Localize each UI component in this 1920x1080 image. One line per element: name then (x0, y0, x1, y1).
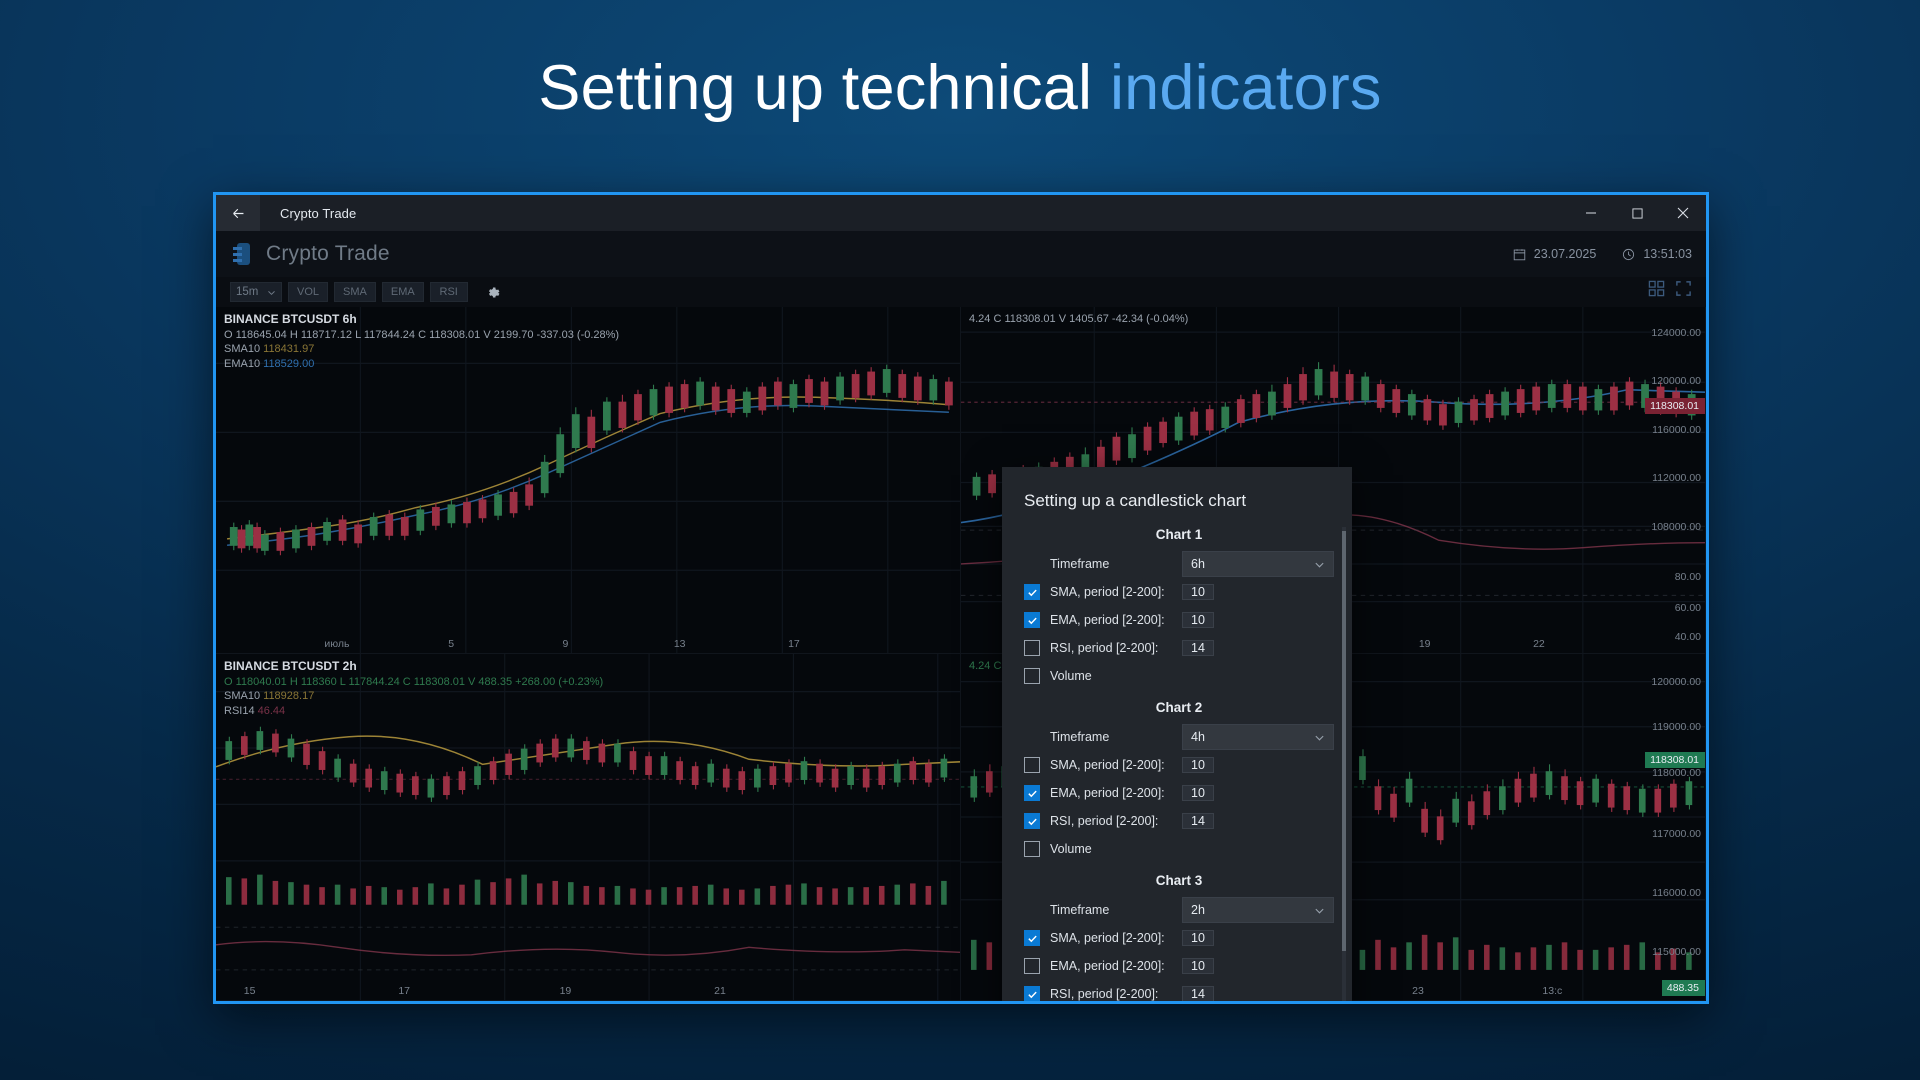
rsi-checkbox-2[interactable] (1024, 813, 1040, 829)
sma-field[interactable]: 10 (1182, 580, 1334, 604)
volume-checkbox-2[interactable] (1024, 841, 1040, 857)
volume-label: Volume (1050, 669, 1334, 683)
checkbox-box (1024, 958, 1040, 974)
chevron-down-icon (1314, 905, 1325, 916)
chart-settings-dialog: Setting up a candlestick chart Chart 1 T… (1002, 467, 1352, 1004)
ema-label: EMA, period [2-200]: (1050, 786, 1182, 800)
timeframe-select-1[interactable]: 6h (1182, 551, 1334, 577)
ema-field[interactable]: 10 (1182, 954, 1334, 978)
checkbox-box (1024, 612, 1040, 628)
spacer (1024, 729, 1040, 745)
checkbox-box (1024, 813, 1040, 829)
minimize-icon (1585, 207, 1597, 219)
rsi-label: RSI, period [2-200]: (1050, 641, 1182, 655)
checkbox-box (1024, 584, 1040, 600)
app-body: Crypto Trade 23.07.2025 13:51:03 (216, 231, 1706, 1001)
volume-label: Volume (1050, 842, 1334, 856)
sma-checkbox-3[interactable] (1024, 930, 1040, 946)
ema-field[interactable]: 10 (1182, 608, 1334, 632)
checkbox-box (1024, 930, 1040, 946)
checkbox-box (1024, 668, 1040, 684)
rsi-label: RSI, period [2-200]: (1050, 987, 1182, 1001)
timeframe-select-2[interactable]: 4h (1182, 724, 1334, 750)
dialog-scroll-area[interactable]: Chart 1 Timeframe 6h (1002, 527, 1352, 1004)
timeframe-label: Timeframe (1050, 557, 1182, 571)
checkbox-box (1024, 640, 1040, 656)
dialog-title: Setting up a candlestick chart (1002, 467, 1352, 511)
maximize-icon (1632, 208, 1643, 219)
sma-checkbox-1[interactable] (1024, 584, 1040, 600)
maximize-button[interactable] (1614, 195, 1660, 231)
sma-label: SMA, period [2-200]: (1050, 758, 1182, 772)
rsi-period-input-1[interactable]: 14 (1182, 640, 1214, 656)
volume-row-2[interactable]: Volume (1024, 835, 1334, 863)
timeframe-row-2: Timeframe 4h (1024, 723, 1334, 751)
ema-label: EMA, period [2-200]: (1050, 613, 1182, 627)
modal-overlay: Setting up a candlestick chart Chart 1 T… (216, 231, 1706, 1001)
sma-checkbox-2[interactable] (1024, 757, 1040, 773)
timeframe-row-3: Timeframe 2h (1024, 896, 1334, 924)
rsi-row-3[interactable]: RSI, period [2-200]: 14 (1024, 980, 1334, 1004)
check-icon (1027, 933, 1038, 944)
rsi-field[interactable]: 14 (1182, 636, 1334, 660)
ema-period-input-2[interactable]: 10 (1182, 785, 1214, 801)
close-icon (1677, 207, 1689, 219)
checkbox-box (1024, 757, 1040, 773)
ema-checkbox-2[interactable] (1024, 785, 1040, 801)
scrollbar-thumb[interactable] (1342, 531, 1346, 951)
ema-period-input-3[interactable]: 10 (1182, 958, 1214, 974)
sma-label: SMA, period [2-200]: (1050, 585, 1182, 599)
ema-row-3[interactable]: EMA, period [2-200]: 10 (1024, 952, 1334, 980)
check-icon (1027, 788, 1038, 799)
timeframe-select-3[interactable]: 2h (1182, 897, 1334, 923)
rsi-row-1[interactable]: RSI, period [2-200]: 14 (1024, 634, 1334, 662)
chevron-down-icon (1314, 559, 1325, 570)
ema-row-1[interactable]: EMA, period [2-200]: 10 (1024, 606, 1334, 634)
back-button[interactable] (216, 195, 260, 231)
checkbox-box (1024, 841, 1040, 857)
window-controls (1568, 195, 1706, 231)
timeframe-label: Timeframe (1050, 730, 1182, 744)
timeframe-field[interactable]: 6h (1182, 551, 1334, 577)
group-heading: Chart 2 (1024, 700, 1334, 715)
rsi-period-input-2[interactable]: 14 (1182, 813, 1214, 829)
slide-title-accent: indicators (1110, 53, 1382, 123)
check-icon (1027, 587, 1038, 598)
ema-row-2[interactable]: EMA, period [2-200]: 10 (1024, 779, 1334, 807)
ema-checkbox-3[interactable] (1024, 958, 1040, 974)
sma-period-input-1[interactable]: 10 (1182, 584, 1214, 600)
rsi-checkbox-1[interactable] (1024, 640, 1040, 656)
timeframe-field[interactable]: 2h (1182, 897, 1334, 923)
sma-row-3[interactable]: SMA, period [2-200]: 10 (1024, 924, 1334, 952)
checkbox-box (1024, 785, 1040, 801)
group-heading: Chart 3 (1024, 873, 1334, 888)
check-icon (1027, 989, 1038, 1000)
close-button[interactable] (1660, 195, 1706, 231)
rsi-label: RSI, period [2-200]: (1050, 814, 1182, 828)
timeframe-value: 2h (1191, 903, 1205, 917)
checkbox-box (1024, 986, 1040, 1002)
check-icon (1027, 615, 1038, 626)
sma-row-2[interactable]: SMA, period [2-200]: 10 (1024, 751, 1334, 779)
app-window: Crypto Trade (213, 192, 1709, 1004)
sma-row-1[interactable]: SMA, period [2-200]: 10 (1024, 578, 1334, 606)
arrow-left-icon (230, 205, 247, 222)
rsi-field[interactable]: 14 (1182, 809, 1334, 833)
window-title: Crypto Trade (280, 206, 356, 221)
ema-checkbox-1[interactable] (1024, 612, 1040, 628)
sma-field[interactable]: 10 (1182, 753, 1334, 777)
ema-field[interactable]: 10 (1182, 781, 1334, 805)
window-titlebar: Crypto Trade (216, 195, 1706, 231)
chevron-down-icon (1314, 732, 1325, 743)
chart-group-2: Chart 2 Timeframe 4h (1002, 700, 1352, 863)
chart-group-3: Chart 3 Timeframe 2h (1002, 873, 1352, 1004)
sma-label: SMA, period [2-200]: (1050, 931, 1182, 945)
sma-field[interactable]: 10 (1182, 926, 1334, 950)
sma-period-input-3[interactable]: 10 (1182, 930, 1214, 946)
spacer (1024, 556, 1040, 572)
timeframe-label: Timeframe (1050, 903, 1182, 917)
timeframe-field[interactable]: 4h (1182, 724, 1334, 750)
rsi-field[interactable]: 14 (1182, 982, 1334, 1004)
check-icon (1027, 816, 1038, 827)
spacer (1024, 902, 1040, 918)
chart-group-1: Chart 1 Timeframe 6h (1002, 527, 1352, 690)
slide-title-main: Setting up technical (538, 53, 1092, 123)
slide-title: Setting up technical indicators (0, 52, 1920, 124)
timeframe-row-1: Timeframe 6h (1024, 550, 1334, 578)
volume-row-1[interactable]: Volume (1024, 662, 1334, 690)
rsi-row-2[interactable]: RSI, period [2-200]: 14 (1024, 807, 1334, 835)
timeframe-value: 6h (1191, 557, 1205, 571)
ema-label: EMA, period [2-200]: (1050, 959, 1182, 973)
minimize-button[interactable] (1568, 195, 1614, 231)
rsi-period-input-3[interactable]: 14 (1182, 986, 1214, 1002)
timeframe-value: 4h (1191, 730, 1205, 744)
sma-period-input-2[interactable]: 10 (1182, 757, 1214, 773)
volume-checkbox-1[interactable] (1024, 668, 1040, 684)
group-heading: Chart 1 (1024, 527, 1334, 542)
ema-period-input-1[interactable]: 10 (1182, 612, 1214, 628)
rsi-checkbox-3[interactable] (1024, 986, 1040, 1002)
